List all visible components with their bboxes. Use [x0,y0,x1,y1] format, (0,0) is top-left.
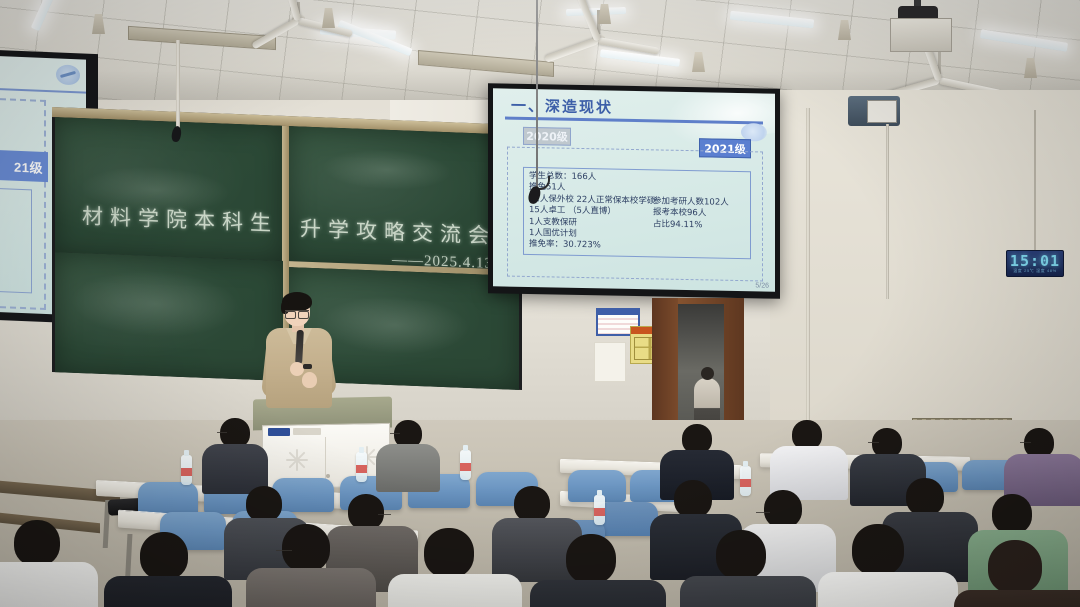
desk-label-blue [268,428,290,436]
torso [530,580,666,607]
glasses-icon [217,432,227,436]
water-bottle [460,450,471,480]
clock-subtext: 温度 25℃ 湿度 48% [1013,268,1057,274]
slide-logo-icon [56,64,80,85]
digital-wall-clock: 15:01 温度 25℃ 湿度 48% [1006,250,1064,277]
glasses-icon [276,550,292,554]
desk-label-gray [293,428,321,435]
lecture-chair[interactable] [596,502,658,536]
head [852,524,904,576]
head [140,532,188,580]
slide-tab-2020: 2020级 [523,127,571,146]
head [424,528,474,578]
speaker-left-hand [290,362,304,376]
slide-inner-box [0,187,32,293]
head [988,540,1042,594]
torso [680,576,816,607]
slide-page-number: 5/26 [755,282,769,289]
desk-knob [326,474,330,478]
head [716,530,766,580]
glasses-icon [868,442,879,446]
torso [376,444,440,492]
clock-time: 15:01 [1010,254,1060,268]
head [764,490,802,528]
torso [388,574,522,607]
desk-ornament-icon [286,449,308,471]
wall-mounted-camera [848,96,900,126]
torso [954,590,1080,607]
water-bottle [356,452,367,482]
glasses-icon [1020,442,1031,446]
wall-pipe-right [806,108,810,438]
torso [246,568,376,607]
water-bottle [594,495,605,525]
microphone-cable [536,0,538,190]
wall-device-pole [886,124,889,299]
head [906,478,944,516]
head [566,534,616,584]
speaker-hair [282,292,312,311]
head [514,486,550,522]
torso [818,572,958,607]
ceiling-projector [890,18,952,52]
slide-rule [0,88,86,94]
head [348,494,384,530]
water-bottle [740,466,751,496]
glasses-icon [390,433,400,437]
slide-right-column: 参加考研人数102人报考本校96人占比94.11% [653,196,729,232]
head [992,494,1032,534]
torso [0,562,98,607]
water-bottle [181,455,192,485]
slide-line: 占比94.11% [653,219,729,232]
slide-title: 一、深造现状 [511,95,613,118]
head [246,486,282,522]
wall-pipe-left [176,40,180,132]
head [282,524,330,572]
torso [104,576,232,607]
wall-notice-blank [594,342,626,382]
speaker-right-hand [302,372,317,388]
clock-hanging-wire [1034,110,1036,252]
head [674,480,712,518]
wristwatch [303,364,312,369]
glasses-icon [756,512,770,516]
glasses-icon [378,514,391,518]
head [14,520,60,566]
side-screen-tab-active: 21级 [0,149,48,182]
slide-line: 推免率：30.723% [529,239,655,253]
lecture-hall-photo: 21级 5/26 材料学院本科生 升学攻略交流会 ——2025.4.13 一、深… [0,0,1080,607]
glasses-icon [285,310,309,316]
